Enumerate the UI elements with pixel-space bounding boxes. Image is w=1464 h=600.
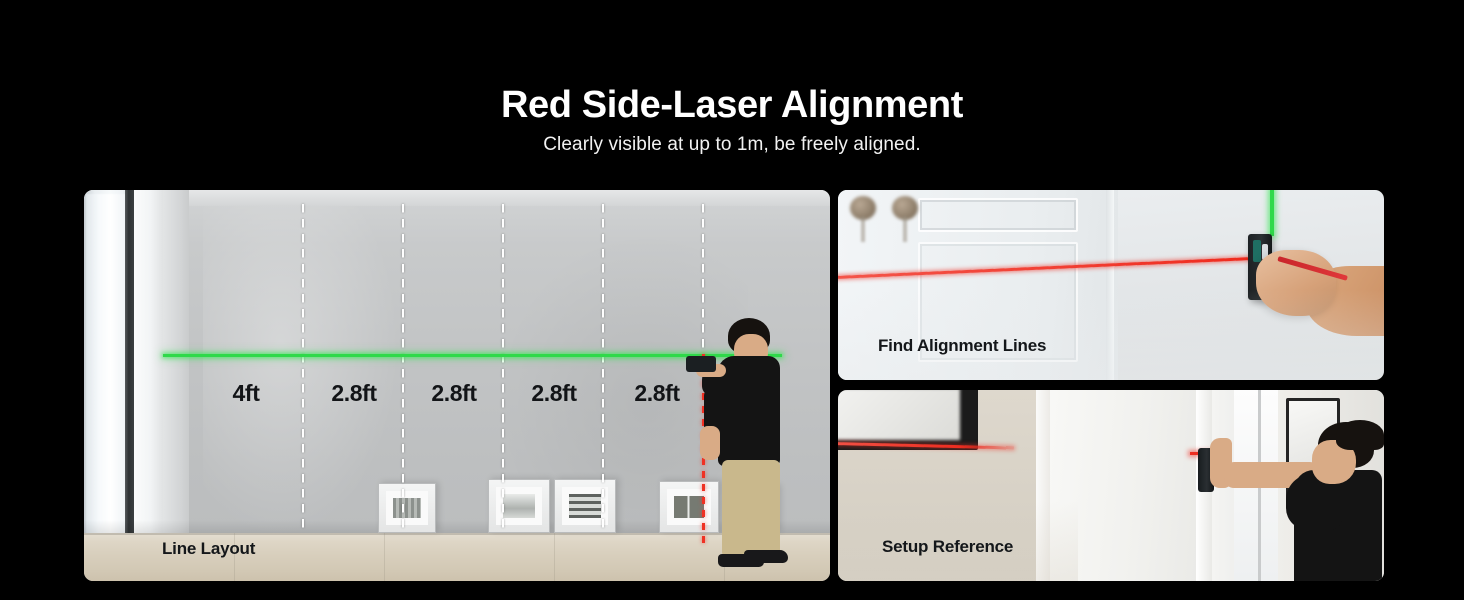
guide-line-dashed (602, 204, 604, 534)
panel-find-alignment-lines: Find Alignment Lines (838, 190, 1384, 380)
page-title: Red Side-Laser Alignment (0, 84, 1464, 127)
wall-corner-return (163, 190, 189, 538)
framed-picture (378, 483, 436, 533)
window-frame (125, 190, 134, 546)
header: Red Side-Laser Alignment Clearly visible… (0, 0, 1464, 180)
person-hair-top (1336, 420, 1384, 450)
laser-device (686, 356, 716, 372)
guide-line-dashed (502, 204, 504, 534)
measurement-label-4: 2.8ft (531, 380, 576, 407)
green-laser-beam (1270, 190, 1274, 236)
measurement-label-2: 2.8ft (331, 380, 376, 407)
panel-setup-reference: Setup Reference (838, 390, 1384, 581)
caption-backdrop (838, 290, 1384, 380)
door-knob-stem (903, 216, 907, 242)
framed-picture (838, 390, 978, 450)
framed-picture (554, 479, 616, 533)
ceiling-strip (84, 190, 830, 206)
setup-reference-scene: Setup Reference (838, 390, 1384, 581)
person-setting-reference (1190, 434, 1384, 581)
picture-art (503, 494, 535, 518)
panel-caption-line-layout: Line Layout (162, 539, 255, 559)
picture-art (393, 498, 421, 518)
picture-art (569, 494, 601, 518)
picture-art (838, 390, 960, 440)
person-hand-lower (700, 426, 720, 460)
person-measuring (696, 318, 826, 568)
measurement-label-3: 2.8ft (431, 380, 476, 407)
measurement-label-5: 2.8ft (634, 380, 679, 407)
framed-picture (488, 479, 550, 533)
floor-plank-seam (554, 533, 555, 581)
page-subtitle: Clearly visible at up to 1m, be freely a… (0, 134, 1464, 156)
panel-line-layout: 4ft 2.8ft 2.8ft 2.8ft 2.8ft Line Layout (84, 190, 830, 581)
window-jamb (134, 190, 164, 542)
panel-caption-setup-reference: Setup Reference (882, 537, 1013, 557)
panel-caption-find-alignment-lines: Find Alignment Lines (878, 336, 1046, 356)
floor-plank-seam (384, 533, 385, 581)
measurement-label-1: 4ft (233, 380, 260, 407)
wall-highlight (203, 190, 397, 534)
line-layout-scene: 4ft 2.8ft 2.8ft 2.8ft 2.8ft Line Layout (84, 190, 830, 581)
person-shoe-right (744, 550, 788, 563)
laser-device-accent (1253, 240, 1261, 262)
find-alignment-scene: Find Alignment Lines (838, 190, 1384, 380)
window-glass (86, 194, 126, 538)
door-knob-stem (861, 216, 865, 242)
promo-banner: Red Side-Laser Alignment Clearly visible… (0, 0, 1464, 600)
guide-line-dashed (402, 204, 404, 534)
door-panel-upper (918, 198, 1078, 232)
guide-line-dashed (302, 204, 304, 534)
